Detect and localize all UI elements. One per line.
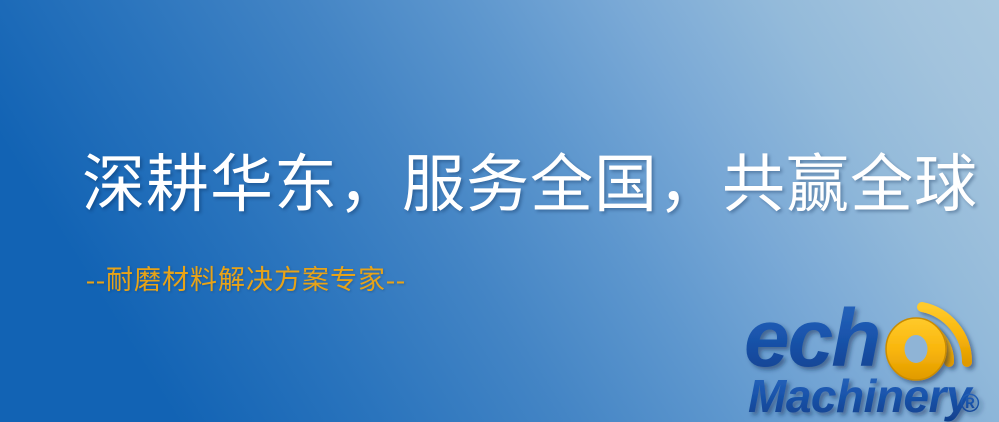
- svg-text:Machinery: Machinery: [748, 370, 974, 422]
- hero-banner: 深耕华东，服务全国，共赢全球 --耐磨材料解决方案专家--: [0, 0, 999, 422]
- logo-artwork: ech Machinery ®: [744, 296, 999, 422]
- page-title: 深耕华东，服务全国，共赢全球: [82, 152, 978, 218]
- logo-text-machinery: Machinery ®: [748, 370, 980, 422]
- company-logo[interactable]: ech Machinery ®: [744, 296, 999, 422]
- registered-trademark-icon: ®: [960, 388, 980, 418]
- page-subtitle: --耐磨材料解决方案专家--: [86, 266, 406, 296]
